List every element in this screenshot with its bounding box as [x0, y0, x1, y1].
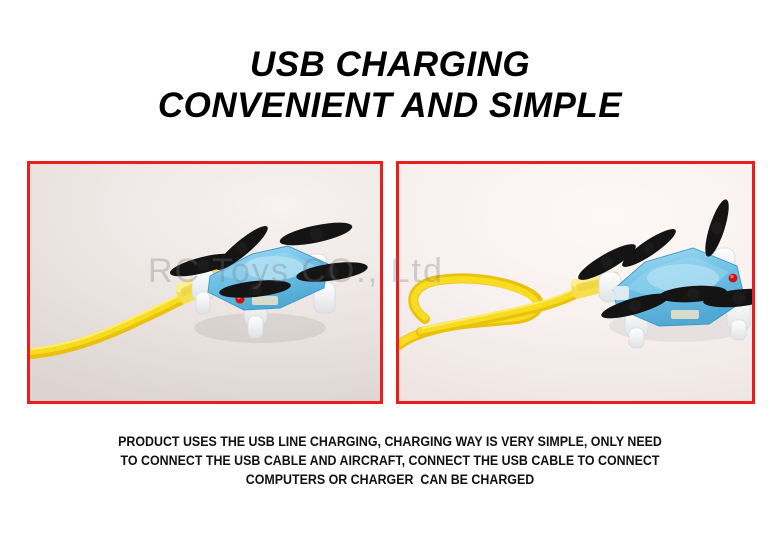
- product-photo-panel-left: [27, 161, 383, 404]
- title-line-1: USB CHARGING: [0, 44, 780, 85]
- caption-line-1: PRODUCT USES THE USB LINE CHARGING, CHAR…: [31, 432, 749, 451]
- caption-block: PRODUCT USES THE USB LINE CHARGING, CHAR…: [0, 432, 780, 489]
- drone-led-indicator: [729, 274, 738, 283]
- title-line-2: CONVENIENT AND SIMPLE: [0, 85, 780, 126]
- caption-line-2: TO CONNECT THE USB CABLE AND AIRCRAFT, C…: [31, 451, 749, 470]
- propeller-rear-right: [278, 218, 354, 250]
- quadcopter-drone-right: [567, 186, 755, 361]
- quadcopter-drone-left: [156, 196, 366, 361]
- caption-line-3: COMPUTERS OR CHARGER CAN BE CHARGED: [31, 470, 749, 489]
- page-title: USB CHARGING CONVENIENT AND SIMPLE: [0, 44, 780, 126]
- product-photo-panel-right: [396, 161, 755, 404]
